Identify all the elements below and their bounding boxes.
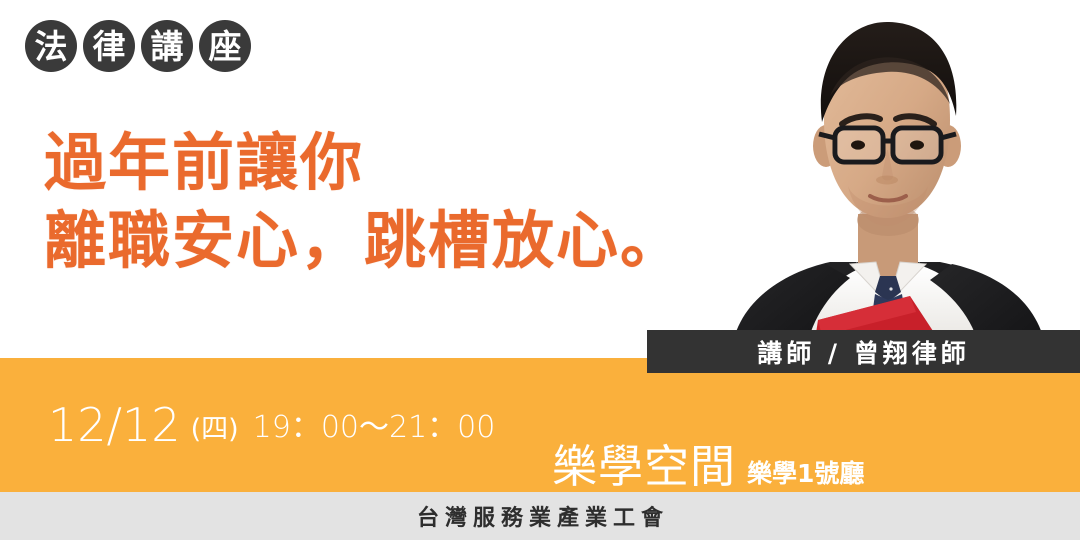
badge-chip-3: 講 — [141, 20, 193, 72]
event-date: 12/12 — [48, 402, 181, 448]
poster-footer: 台灣服務業產業工會 — [0, 492, 1080, 540]
event-poster: 法 律 講 座 過年前讓你 離職安心，跳槽放心。 — [0, 0, 1080, 540]
event-details-band: 12/12 (四) 19：00〜21：00 樂學空間 樂學1號廳 — [0, 358, 1080, 492]
poster-headline: 過年前讓你 離職安心，跳槽放心。 — [44, 124, 684, 280]
lecture-category-badge: 法 律 講 座 — [25, 20, 251, 72]
speaker-portrait — [690, 0, 1080, 360]
badge-chip-1: 法 — [25, 20, 77, 72]
venue-name: 樂學空間 — [552, 444, 736, 489]
headline-line-1: 過年前讓你 — [44, 124, 684, 202]
event-weekday: (四) — [191, 416, 239, 443]
event-time: 19：00〜21：00 — [253, 413, 496, 443]
event-datetime-group: 12/12 (四) 19：00〜21：00 — [48, 358, 495, 492]
organizer-name: 台灣服務業產業工會 — [411, 500, 669, 532]
speaker-name-label: 講師 / 曾翔律師 — [757, 334, 970, 370]
badge-chip-2: 律 — [83, 20, 135, 72]
badge-chip-4: 座 — [199, 20, 251, 72]
event-venue-group: 樂學空間 樂學1號廳 — [552, 358, 864, 492]
speaker-name-bar: 講師 / 曾翔律師 — [647, 330, 1080, 373]
venue-room: 樂學1號廳 — [747, 461, 864, 486]
headline-line-2: 離職安心，跳槽放心。 — [44, 202, 684, 280]
